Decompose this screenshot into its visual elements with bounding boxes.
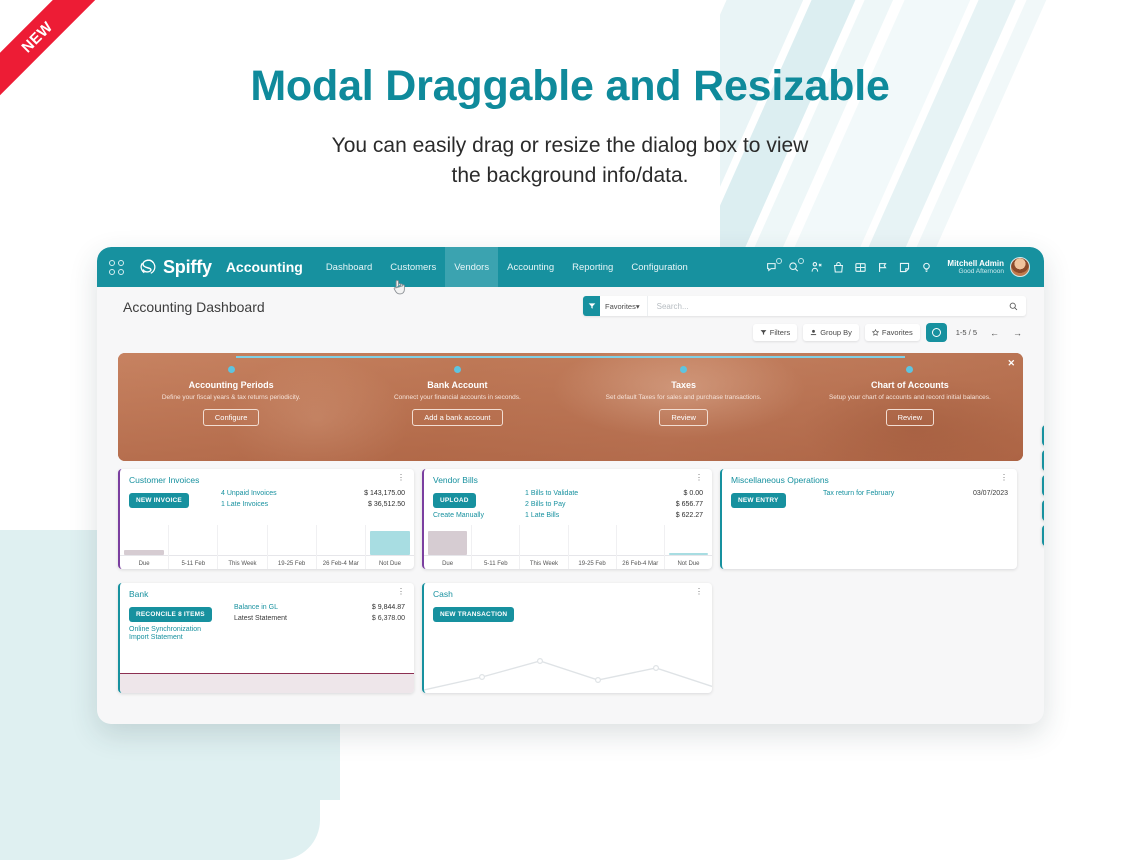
nav-item-reporting[interactable]: Reporting — [563, 247, 622, 287]
stat-label: Balance in GL — [234, 603, 278, 614]
view-controls: Filters Group By Favorites 1-5 / 5 ← → — [583, 323, 1026, 342]
online-synchronization-link[interactable]: Online Synchronization — [129, 626, 234, 633]
card-stats: 1 Bills to Validate $ 0.00 2 Bills to Pa… — [525, 489, 703, 522]
favorites-button[interactable]: Favorites — [865, 324, 920, 341]
stat-label: 1 Bills to Validate — [525, 489, 578, 500]
user-menu[interactable]: Mitchell Admin Good Afternoon — [947, 257, 1030, 277]
kebab-menu-icon[interactable]: ⋮ — [695, 589, 703, 595]
user-greeting: Good Afternoon — [947, 268, 1004, 275]
bookmark-tool[interactable] — [1042, 525, 1044, 546]
onboarding-step-taxes: Taxes Set default Taxes for sales and pu… — [571, 366, 797, 461]
add-bank-account-button[interactable]: Add a bank account — [412, 409, 502, 426]
review-taxes-button[interactable]: Review — [659, 409, 708, 426]
customer-invoices-bar-chart: Due 5-11 Feb This Week 19-25 Feb 26 Feb-… — [120, 525, 414, 569]
stat-value: $ 143,175.00 — [364, 489, 405, 500]
card-title: Customer Invoices — [129, 475, 199, 485]
card-title: Miscellaneous Operations — [731, 475, 829, 485]
step-description: Connect your financial accounts in secon… — [344, 393, 570, 402]
filters-button[interactable]: Filters — [753, 324, 797, 341]
nav-item-customers[interactable]: Customers — [381, 247, 445, 287]
stat-value: $ 36,512.50 — [368, 500, 405, 511]
activity-person-icon[interactable] — [810, 261, 823, 274]
chat-bubble-icon[interactable] — [788, 261, 801, 274]
step-description: Setup your chart of accounts and record … — [797, 393, 1023, 402]
search-input[interactable]: Search... — [648, 302, 1001, 311]
step-title: Bank Account — [344, 380, 570, 390]
card-stats: Tax return for February 03/07/2023 — [823, 489, 1008, 508]
stat-row[interactable]: 1 Bills to Validate $ 0.00 — [525, 489, 703, 500]
card-actions: NEW ENTRY — [731, 489, 823, 508]
bar-label: 26 Feb-4 Mar — [617, 561, 664, 567]
onboarding-banner: ✕ Accounting Periods Define your fiscal … — [118, 353, 1023, 461]
stat-label: 1 Late Bills — [525, 511, 559, 522]
stat-row[interactable]: 1 Late Bills $ 622.27 — [525, 511, 703, 522]
kebab-menu-icon[interactable]: ⋮ — [397, 589, 405, 595]
page-subtitle-line2: the background info/data. — [0, 161, 1140, 191]
card-body: RECONCILE 8 ITEMS Online Synchronization… — [120, 599, 414, 641]
card-body: NEW TRANSACTION — [424, 599, 712, 622]
card-stats: 4 Unpaid Invoices $ 143,175.00 1 Late In… — [221, 489, 405, 511]
step-description: Define your fiscal years & tax returns p… — [118, 393, 344, 402]
kebab-menu-icon[interactable]: ⋮ — [1000, 475, 1008, 481]
onboarding-steps: Accounting Periods Define your fiscal ye… — [118, 353, 1023, 461]
nav-item-configuration[interactable]: Configuration — [622, 247, 697, 287]
import-statement-link[interactable]: Import Statement — [129, 634, 234, 641]
user-text: Mitchell Admin Good Afternoon — [947, 259, 1004, 276]
nav-item-dashboard[interactable]: Dashboard — [317, 247, 381, 287]
new-entry-button[interactable]: NEW ENTRY — [731, 493, 786, 508]
bar-label: Due — [424, 561, 471, 567]
new-invoice-button[interactable]: NEW INVOICE — [129, 493, 189, 508]
upload-button[interactable]: UPLOAD — [433, 493, 476, 508]
close-icon[interactable]: ✕ — [1007, 358, 1015, 369]
shopping-bag-icon[interactable] — [832, 261, 845, 274]
nav-item-vendors[interactable]: Vendors — [445, 247, 498, 287]
grid-apps-icon[interactable] — [854, 261, 867, 274]
card-actions: RECONCILE 8 ITEMS Online Synchronization… — [129, 603, 234, 641]
card-body: NEW INVOICE 4 Unpaid Invoices $ 143,175.… — [120, 485, 414, 511]
card-header: Customer Invoices ⋮ — [120, 469, 414, 485]
step-description: Set default Taxes for sales and purchase… — [571, 393, 797, 402]
page-subtitle-line1: You can easily drag or resize the dialog… — [0, 131, 1140, 161]
arrow-left-icon[interactable]: ← — [986, 324, 1003, 341]
entry-date: 03/07/2023 — [973, 489, 1008, 500]
message-bubble-icon[interactable] — [766, 261, 779, 274]
stat-row[interactable]: 4 Unpaid Invoices $ 143,175.00 — [221, 489, 405, 500]
filter-funnel-icon — [760, 329, 767, 336]
card-actions: UPLOAD Create Manually — [433, 489, 525, 522]
navbar-systray: Mitchell Admin Good Afternoon — [766, 257, 1034, 277]
review-coa-button[interactable]: Review — [886, 409, 935, 426]
pager-count: 1-5 / 5 — [956, 328, 977, 337]
filter-funnel-icon — [583, 296, 600, 316]
nav-menu: Dashboard Customers Vendors Accounting R… — [317, 247, 697, 287]
bar-label: 5-11 Feb — [472, 561, 519, 567]
stat-value: $ 622.27 — [676, 511, 703, 522]
stat-label: 4 Unpaid Invoices — [221, 489, 277, 500]
cash-line-chart — [424, 635, 712, 693]
card-title: Bank — [129, 589, 148, 599]
search-tool[interactable] — [1042, 450, 1044, 471]
bar-label: 26 Feb-4 Mar — [317, 561, 365, 567]
step-title: Accounting Periods — [118, 380, 344, 390]
card-miscellaneous-operations[interactable]: Miscellaneous Operations ⋮ NEW ENTRY Tax… — [720, 469, 1017, 569]
expand-tool[interactable] — [1042, 475, 1044, 496]
search-area: Favorites▾ Search... Filters Group By — [583, 296, 1026, 342]
card-vendor-bills[interactable]: Vendor Bills ⋮ UPLOAD Create Manually 1 … — [422, 469, 712, 569]
bar-label: Due — [120, 561, 168, 567]
flag-icon[interactable] — [876, 261, 889, 274]
stat-value: $ 9,844.87 — [372, 603, 405, 614]
star-icon — [872, 329, 879, 336]
bar-label: Not Due — [665, 561, 712, 567]
user-name: Mitchell Admin — [947, 259, 1004, 268]
mouse-cursor-hand-icon — [392, 277, 407, 296]
onboarding-step-accounting-periods: Accounting Periods Define your fiscal ye… — [118, 366, 344, 461]
stat-row[interactable]: Latest Statement $ 6,378.00 — [234, 614, 405, 625]
sticky-note-icon[interactable] — [898, 261, 911, 274]
new-transaction-button[interactable]: NEW TRANSACTION — [433, 607, 514, 622]
bar-label: 19-25 Feb — [268, 561, 316, 567]
dashboard-title: Accounting Dashboard — [123, 296, 265, 315]
entry-label: Tax return for February — [823, 489, 894, 500]
bar-label: This Week — [218, 561, 266, 567]
step-dot-icon — [680, 366, 687, 373]
bar-label: This Week — [520, 561, 567, 567]
card-cash[interactable]: Cash ⋮ NEW TRANSACTION — [422, 583, 712, 693]
favorite-tool[interactable] — [1042, 425, 1044, 446]
card-stats: Balance in GL $ 9,844.87 Latest Statemen… — [234, 603, 405, 641]
card-title: Cash — [433, 589, 453, 599]
card-actions: NEW TRANSACTION — [433, 603, 553, 622]
control-bar: Accounting Dashboard Favorites▾ Search..… — [97, 287, 1044, 346]
bar-label: 19-25 Feb — [569, 561, 616, 567]
card-body: UPLOAD Create Manually 1 Bills to Valida… — [424, 485, 712, 522]
onboarding-step-bank-account: Bank Account Connect your financial acco… — [344, 366, 570, 461]
stat-row[interactable]: Tax return for February 03/07/2023 — [823, 489, 1008, 500]
dashboard-cards-row-2: Bank ⋮ RECONCILE 8 ITEMS Online Synchron… — [97, 575, 1044, 693]
stat-row[interactable]: 2 Bills to Pay $ 656.77 — [525, 500, 703, 511]
step-dot-icon — [454, 366, 461, 373]
new-ribbon-label: NEW — [0, 0, 115, 115]
bar-label: Not Due — [366, 561, 414, 567]
kebab-menu-icon[interactable]: ⋮ — [695, 475, 703, 481]
stat-label: 2 Bills to Pay — [525, 500, 565, 511]
search-icon[interactable] — [1001, 302, 1026, 311]
arrow-right-icon[interactable]: → — [1009, 324, 1026, 341]
card-header: Miscellaneous Operations ⋮ — [722, 469, 1017, 485]
page-subtitle: You can easily drag or resize the dialog… — [0, 131, 1140, 191]
card-header: Cash ⋮ — [424, 583, 712, 599]
avatar[interactable] — [1010, 257, 1030, 277]
create-manually-link[interactable]: Create Manually — [433, 512, 525, 519]
card-customer-invoices[interactable]: Customer Invoices ⋮ NEW INVOICE 4 Unpaid… — [118, 469, 414, 569]
stat-value: $ 0.00 — [684, 489, 703, 500]
search-bar[interactable]: Favorites▾ Search... — [583, 296, 1026, 316]
app-navbar: Spiffy Accounting Dashboard Customers Ve… — [97, 247, 1044, 287]
configure-button[interactable]: Configure — [203, 409, 260, 426]
step-dot-icon — [228, 366, 235, 373]
step-title: Chart of Accounts — [797, 380, 1023, 390]
card-actions: NEW INVOICE — [129, 489, 221, 511]
spiffy-s-logo-icon — [138, 257, 158, 277]
page-title: Modal Draggable and Resizable — [0, 62, 1140, 111]
brand-name: Spiffy — [163, 257, 212, 278]
current-app-name: Accounting — [226, 259, 303, 275]
card-bank[interactable]: Bank ⋮ RECONCILE 8 ITEMS Online Synchron… — [118, 583, 414, 693]
stat-label: 1 Late Invoices — [221, 500, 268, 511]
stat-label: Latest Statement — [234, 614, 287, 625]
card-body: NEW ENTRY Tax return for February 03/07/… — [722, 485, 1017, 508]
app-window-screenshot: Spiffy Accounting Dashboard Customers Ve… — [97, 247, 1044, 724]
group-by-icon — [810, 329, 817, 336]
bar-label: 5-11 Feb — [169, 561, 217, 567]
brand-logo[interactable]: Spiffy — [138, 257, 212, 278]
stat-value: $ 656.77 — [676, 500, 703, 511]
bank-balance-bar — [120, 673, 414, 693]
nav-item-accounting[interactable]: Accounting — [498, 247, 563, 287]
card-header: Bank ⋮ — [120, 583, 414, 599]
new-ribbon: NEW — [0, 0, 120, 120]
kebab-menu-icon[interactable]: ⋮ — [397, 475, 405, 481]
reconcile-items-button[interactable]: RECONCILE 8 ITEMS — [129, 607, 212, 622]
stat-row[interactable]: Balance in GL $ 9,844.87 — [234, 603, 405, 614]
step-title: Taxes — [571, 380, 797, 390]
side-toolbar — [1042, 425, 1044, 546]
vendor-bills-bar-chart: Due 5-11 Feb This Week 19-25 Feb 26 Feb-… — [424, 525, 712, 569]
stat-row[interactable]: 1 Late Invoices $ 36,512.50 — [221, 500, 405, 511]
card-title: Vendor Bills — [433, 475, 478, 485]
group-by-button[interactable]: Group By — [803, 324, 859, 341]
search-facet-favorites[interactable]: Favorites▾ — [583, 296, 648, 316]
stat-value: $ 6,378.00 — [372, 614, 405, 625]
light-bulb-icon[interactable] — [920, 261, 933, 274]
card-header: Vendor Bills ⋮ — [424, 469, 712, 485]
search-facet-label: Favorites▾ — [600, 302, 647, 311]
onboarding-step-chart-of-accounts: Chart of Accounts Setup your chart of ac… — [797, 366, 1023, 461]
dashboard-cards-row-1: Customer Invoices ⋮ NEW INVOICE 4 Unpaid… — [97, 461, 1044, 569]
step-dot-icon — [906, 366, 913, 373]
apps-grid-icon[interactable] — [109, 260, 124, 275]
kanban-view-icon[interactable] — [926, 323, 947, 342]
zoom-tool[interactable] — [1042, 500, 1044, 521]
